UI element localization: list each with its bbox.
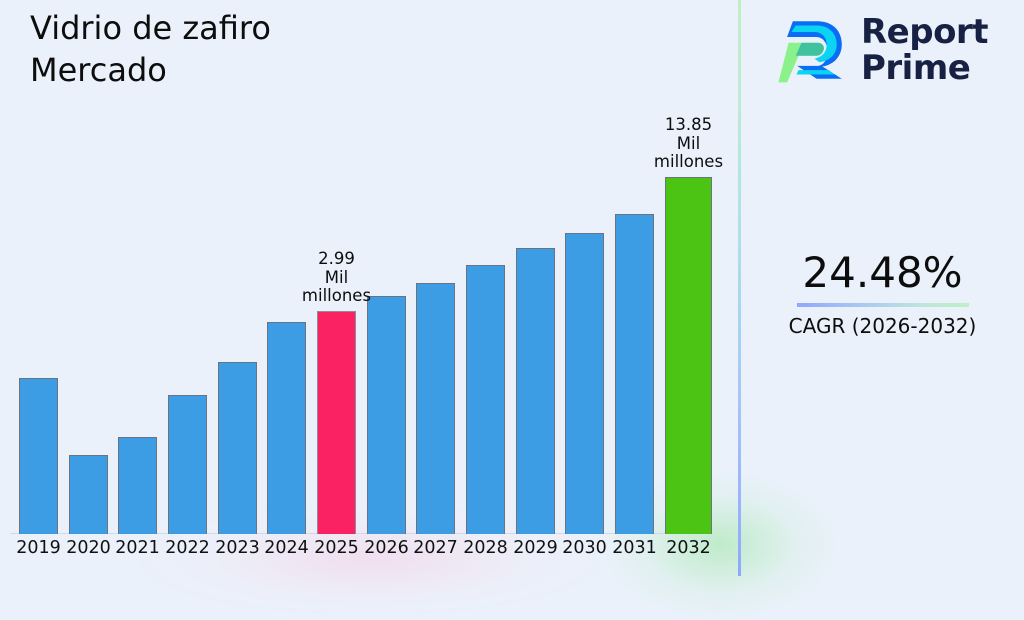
bar-2022: [168, 395, 207, 534]
x-tick-2022: 2022: [162, 538, 213, 558]
x-tick-2032: 2032: [659, 538, 718, 558]
cagr-divider: [797, 303, 969, 307]
x-tick-2026: 2026: [361, 538, 412, 558]
cagr-value: 24.48%: [741, 252, 1024, 294]
cagr-block: 24.48% CAGR (2026-2032): [741, 252, 1024, 338]
bar-chart-plot: 2019202020212022202320242025202620272028…: [0, 0, 738, 576]
x-tick-2021: 2021: [112, 538, 163, 558]
bar-2028: [466, 265, 505, 534]
bar-2032: [665, 177, 712, 534]
x-tick-2029: 2029: [510, 538, 561, 558]
bar-label-2025: 2.99 Mil millones: [277, 250, 397, 306]
bar-2027: [416, 283, 455, 534]
x-tick-2025: 2025: [311, 538, 362, 558]
bar-2024: [267, 322, 306, 534]
x-axis-baseline: [10, 533, 710, 534]
bar-2026: [367, 296, 406, 534]
bar-2020: [69, 455, 108, 534]
bar-2031: [615, 214, 654, 534]
bar-2030: [565, 233, 604, 534]
x-tick-2019: 2019: [13, 538, 64, 558]
x-tick-2023: 2023: [212, 538, 263, 558]
cagr-caption: CAGR (2026-2032): [741, 314, 1024, 338]
bar-2019: [19, 378, 58, 534]
brand-logo: Report Prime: [777, 10, 1003, 90]
chart-canvas: Vidrio de zafiro Mercado 201920202021202…: [0, 0, 1024, 576]
x-tick-2024: 2024: [261, 538, 312, 558]
brand-panel: Report Prime 24.48% CAGR (2026-2032): [741, 0, 1024, 576]
x-tick-2031: 2031: [609, 538, 660, 558]
bar-label-2032: 13.85 Mil millones: [629, 116, 749, 172]
x-tick-2027: 2027: [410, 538, 461, 558]
chart-panel: Vidrio de zafiro Mercado 201920202021202…: [0, 0, 738, 576]
bar-2023: [218, 362, 257, 534]
bar-2025: [317, 311, 356, 534]
brand-name: Report Prime: [861, 14, 988, 86]
report-prime-logo-icon: [777, 14, 849, 86]
bar-2021: [118, 437, 157, 534]
bar-2029: [516, 248, 555, 534]
x-tick-2030: 2030: [559, 538, 610, 558]
x-tick-2020: 2020: [63, 538, 114, 558]
x-tick-2028: 2028: [460, 538, 511, 558]
